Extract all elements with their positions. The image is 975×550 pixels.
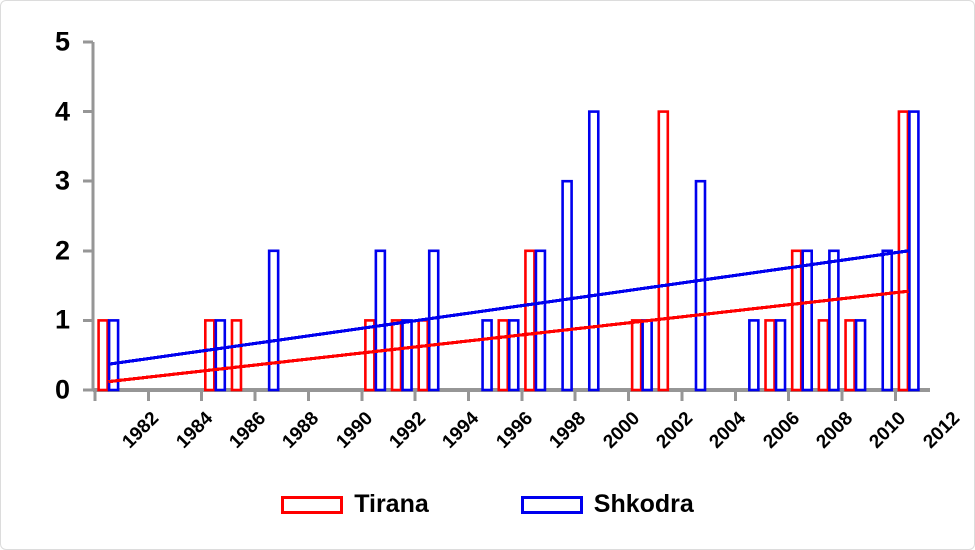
bar-shkodra-1994 <box>429 251 438 390</box>
bar-tirana-2009 <box>819 320 828 390</box>
bar-tirana-2003 <box>659 112 668 390</box>
bar-shkodra-2004 <box>696 181 705 390</box>
bar-shkodra-1988 <box>269 251 278 390</box>
bar-tirana-1998 <box>525 251 534 390</box>
bar-tirana-1986 <box>205 320 214 390</box>
bar-shkodra-1992 <box>376 251 385 390</box>
bar-tirana-2010 <box>846 320 855 390</box>
y-tick-label-0: 0 <box>30 377 70 404</box>
bar-tirana-2002 <box>632 320 641 390</box>
legend-label-shkodra: Shkodra <box>594 492 694 517</box>
bar-shkodra-2012 <box>909 112 918 390</box>
bar-tirana-2007 <box>766 320 775 390</box>
y-tick-label-1: 1 <box>30 307 70 334</box>
bar-tirana-1982 <box>99 320 108 390</box>
bar-tirana-2008 <box>792 251 801 390</box>
chart-legend: Tirana Shkodra <box>0 492 975 517</box>
bar-tirana-1997 <box>499 320 508 390</box>
legend-item-tirana[interactable]: Tirana <box>281 492 429 517</box>
bar-shkodra-2009 <box>829 251 838 390</box>
legend-swatch-shkodra <box>521 496 583 514</box>
chart-plot-area <box>0 0 975 550</box>
bar-tirana-1992 <box>365 320 374 390</box>
chart-root: 012345 198219841986198819901992199419961… <box>0 0 975 550</box>
bar-shkodra-1997 <box>509 320 518 390</box>
bar-shkodra-1999 <box>563 181 572 390</box>
legend-swatch-tirana <box>281 496 343 514</box>
bar-shkodra-2002 <box>643 320 652 390</box>
bar-tirana-1993 <box>392 320 401 390</box>
bar-shkodra-2006 <box>749 320 758 390</box>
bar-shkodra-2008 <box>803 251 812 390</box>
bar-tirana-1994 <box>419 320 428 390</box>
bar-shkodra-2010 <box>856 320 865 390</box>
legend-item-shkodra[interactable]: Shkodra <box>521 492 694 517</box>
bar-shkodra-2011 <box>883 251 892 390</box>
bar-tirana-1987 <box>232 320 241 390</box>
y-tick-label-2: 2 <box>30 237 70 264</box>
bar-shkodra-2000 <box>589 112 598 390</box>
y-tick-label-5: 5 <box>30 29 70 56</box>
y-tick-label-4: 4 <box>30 98 70 125</box>
bar-shkodra-1996 <box>483 320 492 390</box>
y-tick-label-3: 3 <box>30 168 70 195</box>
legend-label-tirana: Tirana <box>354 492 429 517</box>
bar-shkodra-1993 <box>403 320 412 390</box>
bar-shkodra-2007 <box>776 320 785 390</box>
bar-shkodra-1986 <box>216 320 225 390</box>
bar-shkodra-1998 <box>536 251 545 390</box>
